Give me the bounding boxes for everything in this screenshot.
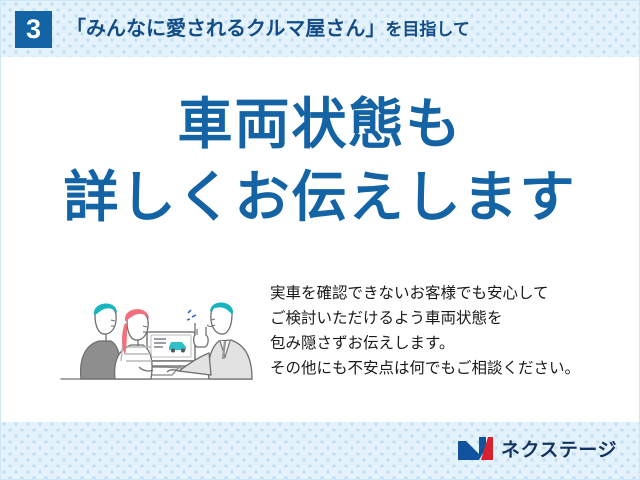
- paragraph-line: 実車を確認できないお客様でも安心して: [270, 281, 580, 306]
- nextage-n-mark-icon: [457, 436, 494, 466]
- nextage-logo: ネクステージ: [457, 436, 617, 466]
- header-title: 「みんなに愛されるクルマ屋さん」を目指して: [66, 19, 470, 39]
- body-paragraph: 実車を確認できないお客様でも安心して ご検討いただけるよう車両状態を 包み隠さず…: [270, 281, 580, 381]
- nextage-n-mark-svg: [457, 436, 494, 461]
- nextage-logo-text: ネクステージ: [501, 441, 617, 460]
- customer-male-figure: [81, 303, 120, 379]
- lower-section: 実車を確認できないお客様でも安心して ご検討いただけるよう車両状態を 包み隠さず…: [1, 271, 639, 421]
- header-band: 3 「みんなに愛されるクルマ屋さん」を目指して: [1, 1, 639, 57]
- consultation-illustration: [59, 275, 254, 398]
- header-title-quoted: 「みんなに愛されるクルマ屋さん」: [66, 18, 385, 40]
- step-number-badge: 3: [15, 11, 52, 48]
- page-title: 車両状態も 詳しくお伝えします: [1, 92, 639, 230]
- headline-line-2: 詳しくお伝えします: [1, 165, 639, 230]
- paragraph-line: その他にも不安点は何でもご相談ください。: [270, 356, 580, 381]
- consultation-illustration-svg: [59, 275, 254, 393]
- content-card: 車両状態も 詳しくお伝えします: [1, 57, 639, 422]
- headline-line-1: 車両状態も: [1, 92, 639, 157]
- footer-band: ネクステージ: [1, 422, 639, 479]
- paragraph-line: ご検討いただけるよう車両状態を: [270, 306, 580, 331]
- paragraph-line: 包み隠さずお伝えします。: [270, 331, 580, 356]
- header-title-tail: を目指して: [385, 20, 470, 39]
- promo-slide: 3 「みんなに愛されるクルマ屋さん」を目指して 車両状態も 詳しくお伝えします: [0, 0, 640, 480]
